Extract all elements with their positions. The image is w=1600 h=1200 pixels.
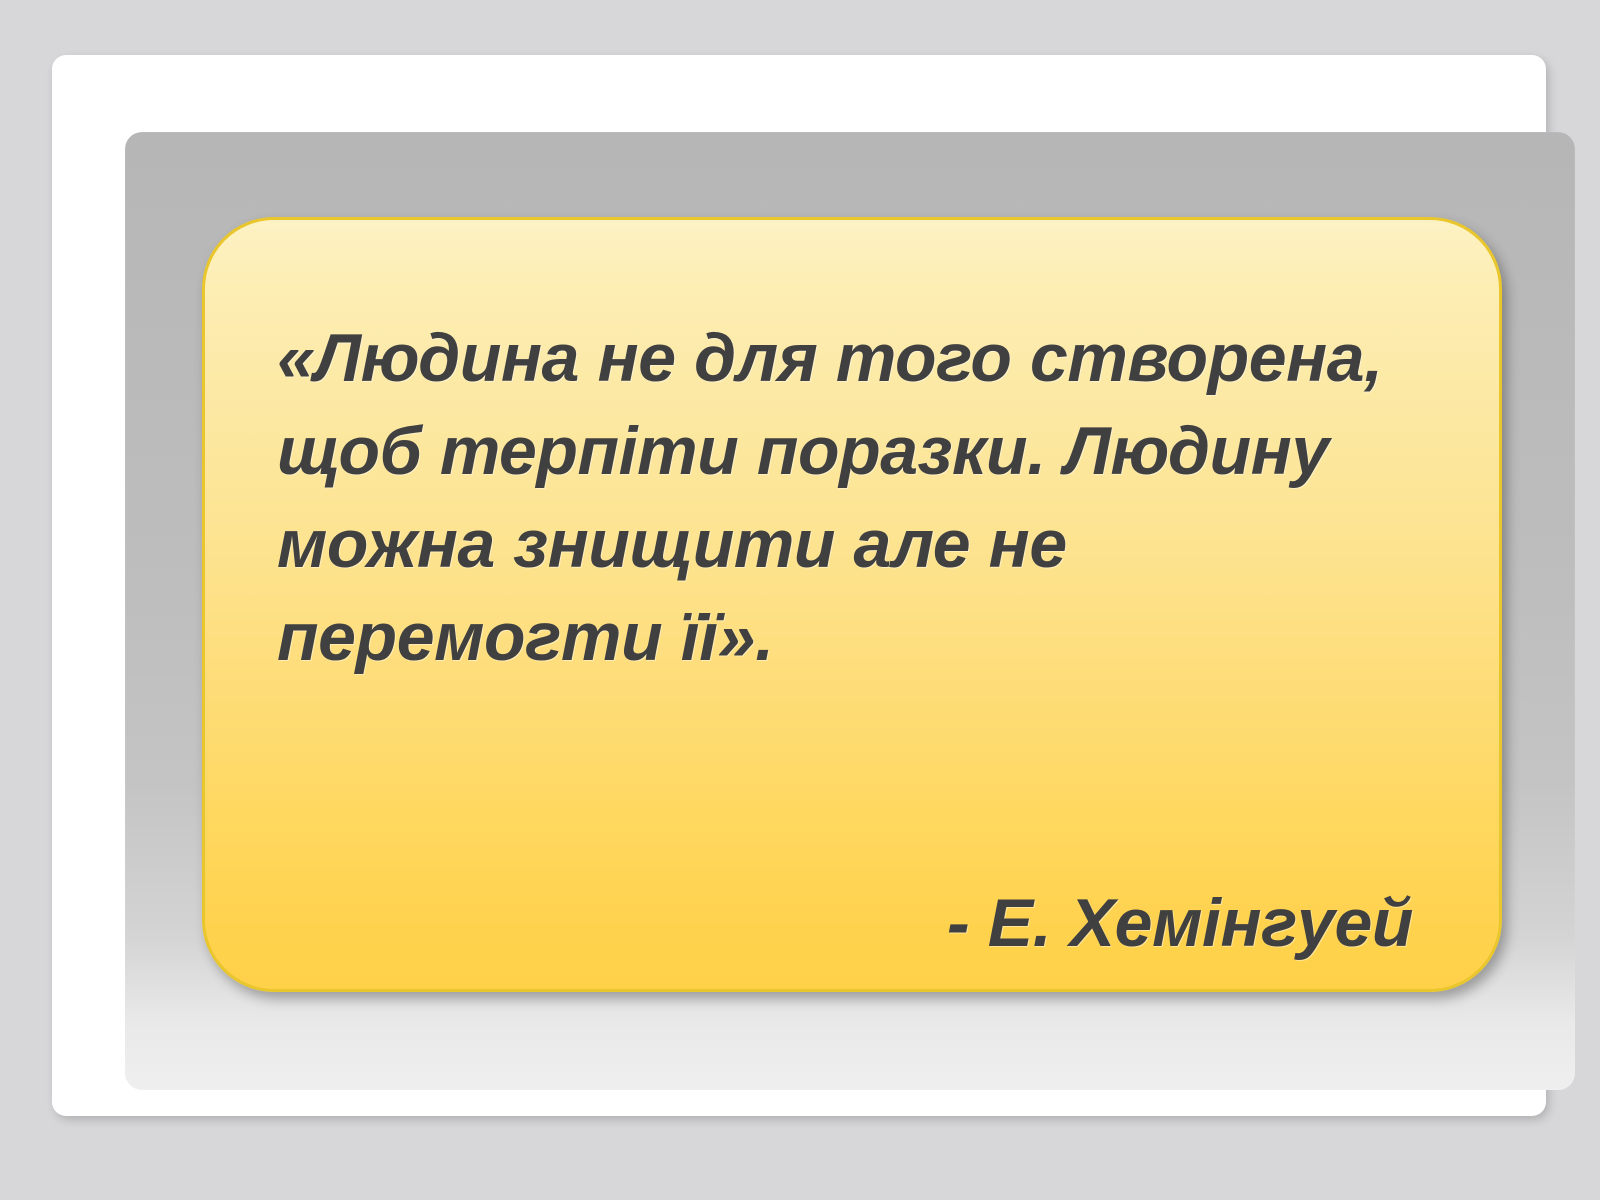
slide-content-panel: «Людина не для того створена, щоб терпіт…	[125, 132, 1575, 1090]
quote-card: «Людина не для того створена, щоб терпіт…	[202, 217, 1502, 992]
quote-attribution: - Е. Хемінгуей	[947, 882, 1413, 964]
quote-card-inner: «Людина не для того створена, щоб терпіт…	[277, 312, 1437, 989]
quote-text: «Людина не для того створена, щоб терпіт…	[277, 312, 1437, 684]
slide-frame: «Людина не для того створена, щоб терпіт…	[52, 55, 1546, 1116]
slide-stage: «Людина не для того створена, щоб терпіт…	[0, 0, 1600, 1200]
